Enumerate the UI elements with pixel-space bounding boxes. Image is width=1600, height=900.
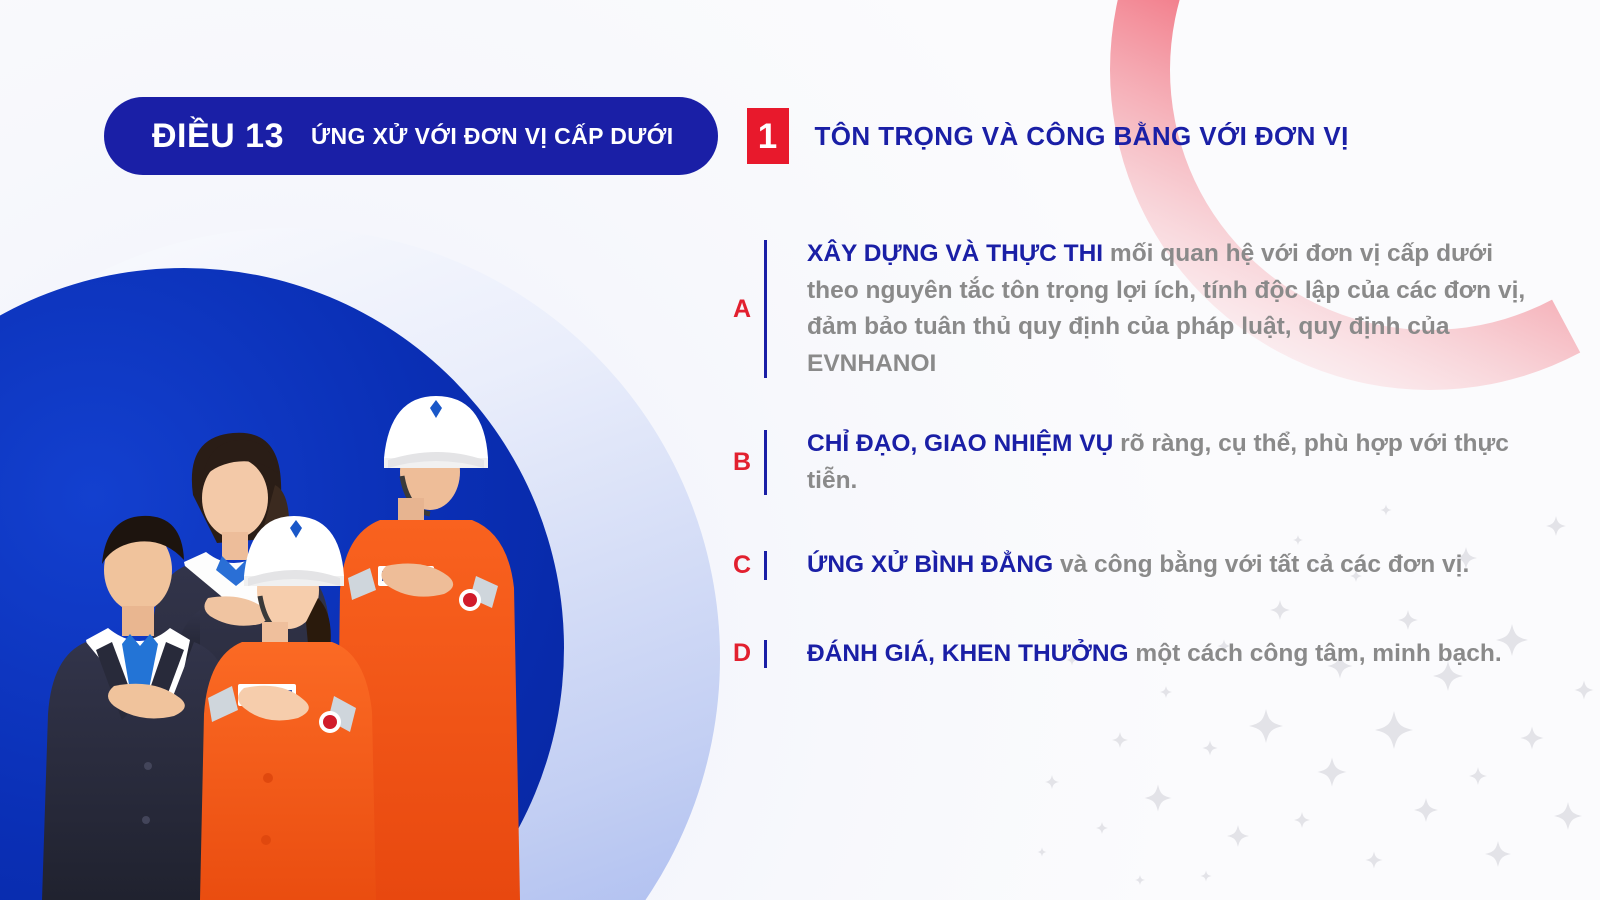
item-letter: D [720, 639, 764, 668]
section-number-badge: 1 [747, 108, 789, 164]
list-item: C ỨNG XỬ BÌNH ĐẲNG và công bằng với tất … [720, 547, 1560, 584]
item-text: ĐÁNH GIÁ, KHEN THƯỞNG một cách công tâm,… [767, 636, 1502, 673]
article-pill: ĐIỀU 13 ỨNG XỬ VỚI ĐƠN VỊ CẤP DƯỚI [104, 97, 718, 175]
item-letter: C [720, 551, 764, 580]
item-text: ỨNG XỬ BÌNH ĐẲNG và công bằng với tất cả… [767, 547, 1469, 584]
item-lead-text: XÂY DỰNG VÀ THỰC THI [807, 240, 1103, 267]
list-item: D ĐÁNH GIÁ, KHEN THƯỞNG một cách công tâ… [720, 636, 1560, 673]
item-lead-text: ĐÁNH GIÁ, KHEN THƯỞNG [807, 640, 1129, 667]
employee-group-photo [30, 280, 590, 900]
list-item: A XÂY DỰNG VÀ THỰC THI mối quan hệ với đ… [720, 236, 1560, 382]
item-lead-text: ỨNG XỬ BÌNH ĐẲNG [807, 551, 1053, 578]
list-item: B CHỈ ĐẠO, GIAO NHIỆM VỤ rõ ràng, cụ thể… [720, 426, 1560, 499]
section-title: TÔN TRỌNG VÀ CÔNG BẰNG VỚI ĐƠN VỊ [815, 121, 1349, 152]
item-body-text: một cách công tâm, minh bạch. [1129, 640, 1502, 667]
principles-list: A XÂY DỰNG VÀ THỰC THI mối quan hệ với đ… [720, 236, 1560, 708]
item-text: XÂY DỰNG VÀ THỰC THI mối quan hệ với đơn… [767, 236, 1560, 382]
item-text: CHỈ ĐẠO, GIAO NHIỆM VỤ rõ ràng, cụ thể, … [767, 426, 1560, 499]
header-bar: ĐIỀU 13 ỨNG XỬ VỚI ĐƠN VỊ CẤP DƯỚI 1 TÔN… [0, 97, 1349, 175]
slide-canvas: ĐIỀU 13 ỨNG XỬ VỚI ĐƠN VỊ CẤP DƯỚI 1 TÔN… [0, 0, 1600, 900]
item-lead-text: CHỈ ĐẠO, GIAO NHIỆM VỤ [807, 430, 1113, 457]
item-body-text: và công bằng với tất cả các đơn vị. [1053, 551, 1469, 578]
item-letter: A [720, 295, 764, 324]
article-label: ĐIỀU 13 [152, 117, 284, 156]
article-subtitle: ỨNG XỬ VỚI ĐƠN VỊ CẤP DƯỚI [311, 123, 674, 150]
item-letter: B [720, 448, 764, 477]
